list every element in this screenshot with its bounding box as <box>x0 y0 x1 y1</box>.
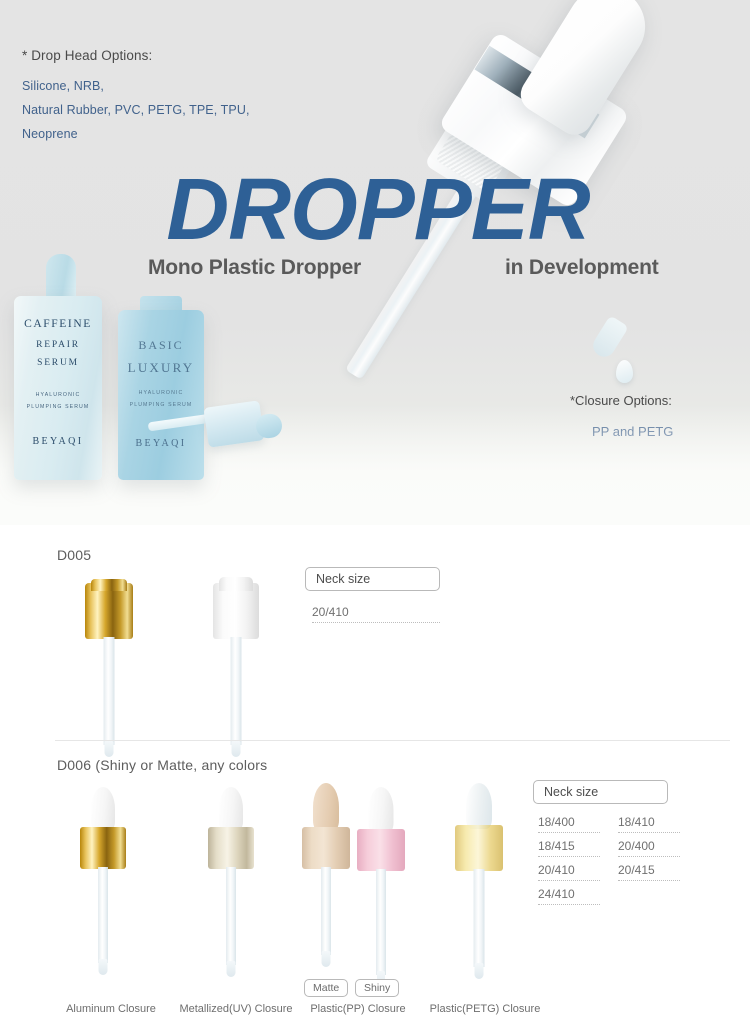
drop-head-option-1: Silicone, NRB, <box>22 74 322 98</box>
caption-plastic-petg-closure: Plastic(PETG) Closure <box>423 1003 547 1015</box>
dropper-cap <box>85 583 133 639</box>
dropper-bulb <box>369 787 394 833</box>
dropper-pipette <box>474 869 485 967</box>
product-d005-gold-dropper <box>78 573 140 763</box>
caption-aluminum-closure: Aluminum Closure <box>63 1003 159 1015</box>
bottle-b-line2: LUXURY <box>118 360 204 376</box>
hero-title-block: DROPPER Mono Plastic Dropper in Developm… <box>0 168 750 286</box>
dropper-cap-top <box>219 577 253 591</box>
drop-head-options: * Drop Head Options: Silicone, NRB, Natu… <box>22 48 322 146</box>
dropper-cap <box>357 829 405 871</box>
dropper-pipette <box>231 637 242 745</box>
hero-subtitle-left: Mono Plastic Dropper <box>148 256 361 280</box>
dropper-cap <box>302 827 350 869</box>
hero-liquid-drop <box>616 360 633 383</box>
badge-matte: Matte <box>304 979 348 997</box>
neck-size-value-4: 20/400 <box>618 839 680 857</box>
hero-subtitle-row: Mono Plastic Dropper in Development <box>0 256 750 286</box>
bottle-a-line2: REPAIR <box>14 340 102 350</box>
drop-head-list: Silicone, NRB, Natural Rubber, PVC, PETG… <box>22 74 322 146</box>
hero-subtitle-right: in Development <box>505 256 659 280</box>
neck-size-value-1: 18/400 <box>538 815 600 833</box>
bottle-a-cap <box>46 254 76 302</box>
drop-head-title: * Drop Head Options: <box>22 48 322 63</box>
drop-head-option-3: Neoprene <box>22 122 322 146</box>
badge-shiny: Shiny <box>355 979 399 997</box>
bottle-b-brand: BEYAQI <box>118 438 204 449</box>
bottle-b-line1: BASIC <box>118 338 204 353</box>
dropper-pipette <box>226 867 236 965</box>
dropper-bulb <box>219 787 243 831</box>
product-d006-aluminum-dropper <box>72 787 134 987</box>
dropper-cap-top <box>91 579 127 591</box>
dropper-tip <box>227 961 236 977</box>
bottle-basic-luxury: BASIC LUXURY HYALURONIC PLUMPING SERUM B… <box>118 310 204 480</box>
hero-floor-reflection <box>0 405 750 525</box>
section-code-d005: D005 <box>57 547 91 563</box>
neck-size-value-d005: 20/410 <box>312 605 440 623</box>
product-d006-plastic-pp-shiny-dropper <box>352 787 410 997</box>
neck-size-value-5: 20/410 <box>538 863 600 881</box>
dropper-tip <box>232 741 241 757</box>
neck-size-header-d006: Neck size <box>533 780 668 804</box>
bottle-b-line4: PLUMPING SERUM <box>118 402 204 408</box>
dropper-tip <box>99 959 108 975</box>
bottle-a-line5: PLUMPING SERUM <box>14 404 102 410</box>
caption-plastic-pp-closure: Plastic(PP) Closure <box>303 1003 413 1015</box>
dropper-tip <box>475 963 484 979</box>
bottle-a-brand: BEYAQI <box>14 436 102 447</box>
caption-metallized-closure: Metallized(UV) Closure <box>172 1003 300 1015</box>
dropper-cap <box>80 827 126 869</box>
dropper-cap <box>213 583 259 639</box>
dropper-pipette <box>104 637 115 745</box>
neck-size-value-6: 20/415 <box>618 863 680 881</box>
dropper-pipette <box>376 869 386 975</box>
bottle-a-line1: CAFFEINE <box>14 318 102 330</box>
product-d006-plastic-petg-dropper <box>448 783 510 988</box>
page-title: DROPPER <box>0 168 750 252</box>
neck-size-value-2: 18/410 <box>618 815 680 833</box>
dropper-cap <box>208 827 254 869</box>
section-divider <box>55 740 730 741</box>
dropper-pipette <box>321 867 331 955</box>
drop-head-option-2: Natural Rubber, PVC, PETG, TPE, TPU, <box>22 98 322 122</box>
catalog-page: * Drop Head Options: Silicone, NRB, Natu… <box>0 0 750 1031</box>
bottle-b-line3: HYALURONIC <box>118 390 204 396</box>
bottle-a-line3: SERUM <box>14 358 102 368</box>
dropper-bulb <box>91 787 115 831</box>
section-code-d006: D006 (Shiny or Matte, any colors <box>57 757 267 773</box>
dropper-bulb <box>313 783 339 831</box>
bottle-caffeine-repair-serum: CAFFEINE REPAIR SERUM HYALURONIC PLUMPIN… <box>14 296 102 480</box>
neck-size-value-3: 18/415 <box>538 839 600 857</box>
dropper-tip <box>322 951 331 967</box>
dropper-cap <box>455 825 503 871</box>
product-sections: D005 Neck size 20/410 D006 (Shiny or Mat… <box>0 525 750 1031</box>
dropper-pipette <box>98 867 108 963</box>
product-d006-metallized-dropper <box>200 787 262 987</box>
dropper-bulb <box>466 783 492 829</box>
neck-size-value-7: 24/410 <box>538 887 600 905</box>
product-d005-white-dropper <box>205 573 267 763</box>
bottle-a-line4: HYALURONIC <box>14 392 102 398</box>
hero-banner: * Drop Head Options: Silicone, NRB, Natu… <box>0 0 750 525</box>
dropper-tip <box>105 741 114 757</box>
neck-size-header-d005: Neck size <box>305 567 440 591</box>
hero-dropper-tip <box>589 315 629 361</box>
product-d006-plastic-pp-matte-dropper <box>297 783 355 983</box>
